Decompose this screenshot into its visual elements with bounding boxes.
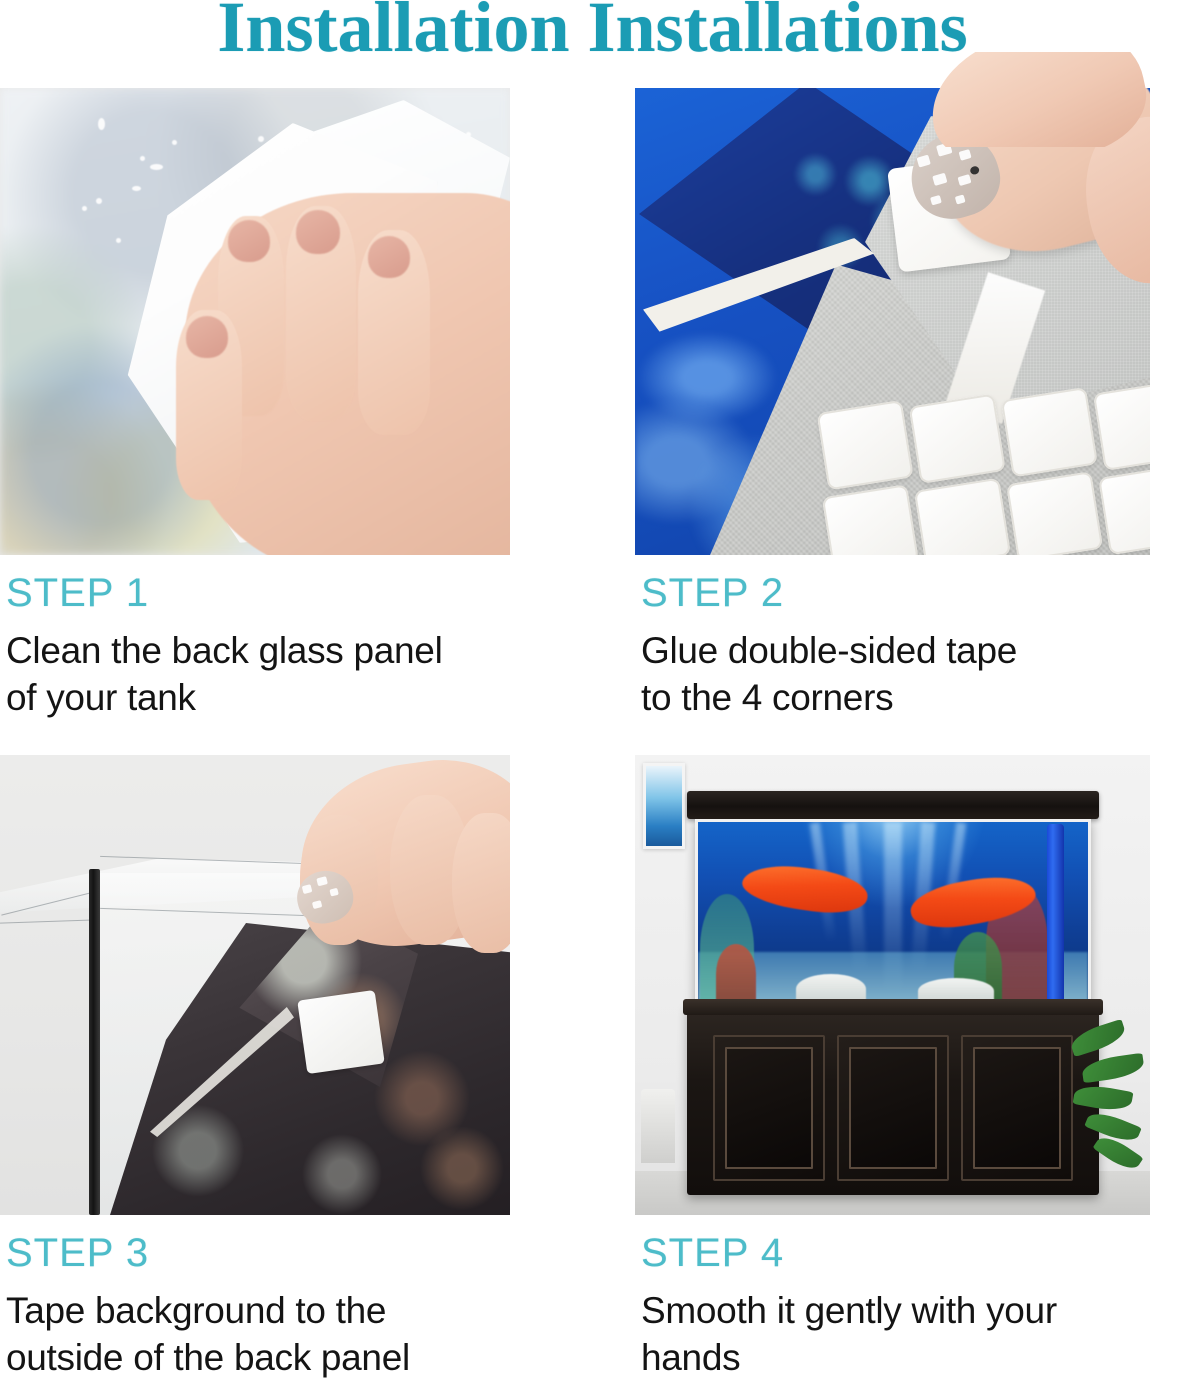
- cabinet-top-trim: [683, 999, 1103, 1015]
- step-2-hand-overflow: [930, 52, 1155, 147]
- step-3-desc-line-1: Tape background to the: [6, 1287, 510, 1334]
- aquarium-tank: [695, 819, 1091, 1007]
- step-card-2: STEP 2 Glue double-sided tape to the 4 c…: [635, 88, 1150, 722]
- step-3-desc-line-2: outside of the back panel: [6, 1334, 510, 1381]
- step-1-desc-line-1: Clean the back glass panel: [6, 627, 510, 674]
- nail-middle: [296, 210, 340, 254]
- step-card-1: STEP 1 Clean the back glass panel of you…: [0, 88, 510, 722]
- step-3-description: Tape background to the outside of the ba…: [6, 1287, 510, 1382]
- aquarium-hood: [687, 791, 1099, 819]
- step-4-photo: [635, 755, 1150, 1215]
- step-card-4: STEP 4 Smooth it gently with your hands: [635, 755, 1150, 1382]
- nail-index: [228, 220, 270, 262]
- step-4-description: Smooth it gently with your hands: [641, 1287, 1150, 1382]
- cabinet-door-center: [837, 1035, 949, 1181]
- step-4-caption: STEP 4 Smooth it gently with your hands: [635, 1215, 1150, 1382]
- side-object: [641, 1089, 675, 1163]
- step-1-label: STEP 1: [6, 573, 510, 613]
- page-title: Installation Installations: [217, 0, 967, 62]
- step-2-desc-line-2: to the 4 corners: [641, 674, 1150, 721]
- wall-art-frame: [643, 763, 685, 849]
- thumb-knuckle: [930, 52, 1155, 147]
- cabinet-door-right: [961, 1035, 1073, 1181]
- filter-tube: [1047, 824, 1064, 1007]
- step-3-label: STEP 3: [6, 1233, 510, 1273]
- step-1-desc-line-2: of your tank: [6, 674, 510, 721]
- step-2-caption: STEP 2 Glue double-sided tape to the 4 c…: [635, 555, 1150, 722]
- step-2-label: STEP 2: [641, 573, 1150, 613]
- step-2-desc-line-1: Glue double-sided tape: [641, 627, 1150, 674]
- step-3-photo: [0, 755, 510, 1215]
- step-1-caption: STEP 1 Clean the back glass panel of you…: [0, 555, 510, 722]
- coral-left-red: [716, 944, 756, 1004]
- aquarium-cabinet: [687, 1005, 1099, 1195]
- tank-corner-trim: [89, 869, 100, 1215]
- step-2-description: Glue double-sided tape to the 4 corners: [641, 627, 1150, 722]
- step-2-photo: [635, 88, 1150, 555]
- houseplant: [1064, 1017, 1148, 1177]
- nail-pinky: [186, 316, 228, 358]
- step-3-caption: STEP 3 Tape background to the outside of…: [0, 1215, 510, 1382]
- finger-ring: [452, 813, 510, 953]
- step-1-photo: [0, 88, 510, 555]
- steps-grid: STEP 1 Clean the back glass panel of you…: [0, 0, 1185, 1398]
- adhesive-tape-square: [297, 990, 385, 1074]
- step-4-desc-line-1: Smooth it gently with your: [641, 1287, 1150, 1334]
- step-1-description: Clean the back glass panel of your tank: [6, 627, 510, 722]
- step-4-label: STEP 4: [641, 1233, 1150, 1273]
- nail-ring: [368, 236, 410, 278]
- step-card-3: STEP 3 Tape background to the outside of…: [0, 755, 510, 1382]
- cabinet-door-left: [713, 1035, 825, 1181]
- step-4-desc-line-2: hands: [641, 1334, 1150, 1381]
